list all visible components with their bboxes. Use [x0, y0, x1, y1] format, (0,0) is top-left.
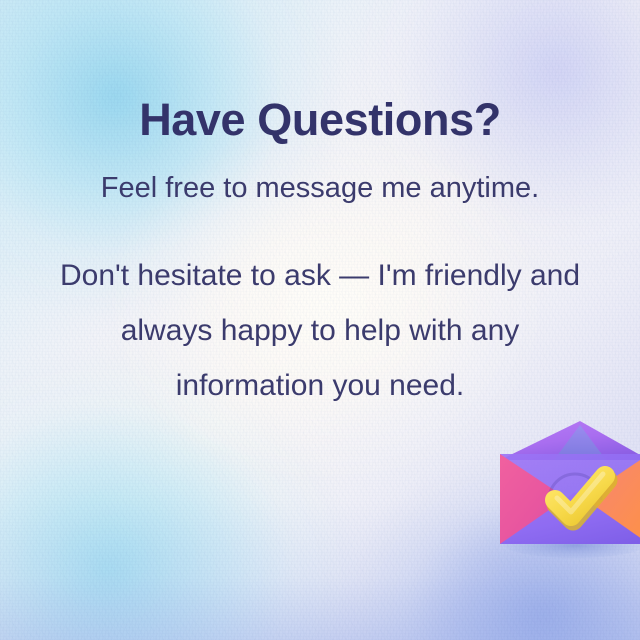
body-paragraph: Don't hesitate to ask — I'm friendly and…	[10, 249, 630, 413]
body-line-2: always happy to help with any	[10, 304, 630, 359]
page-title: Have Questions?	[139, 96, 501, 145]
body-line-1: Don't hesitate to ask — I'm friendly and	[10, 249, 630, 304]
envelope-check-icon	[497, 414, 640, 554]
greeting-card-canvas: Have Questions? Feel free to message me …	[0, 0, 640, 640]
body-line-3: information you need.	[10, 359, 630, 414]
subtitle-text: Feel free to message me anytime.	[101, 171, 539, 206]
